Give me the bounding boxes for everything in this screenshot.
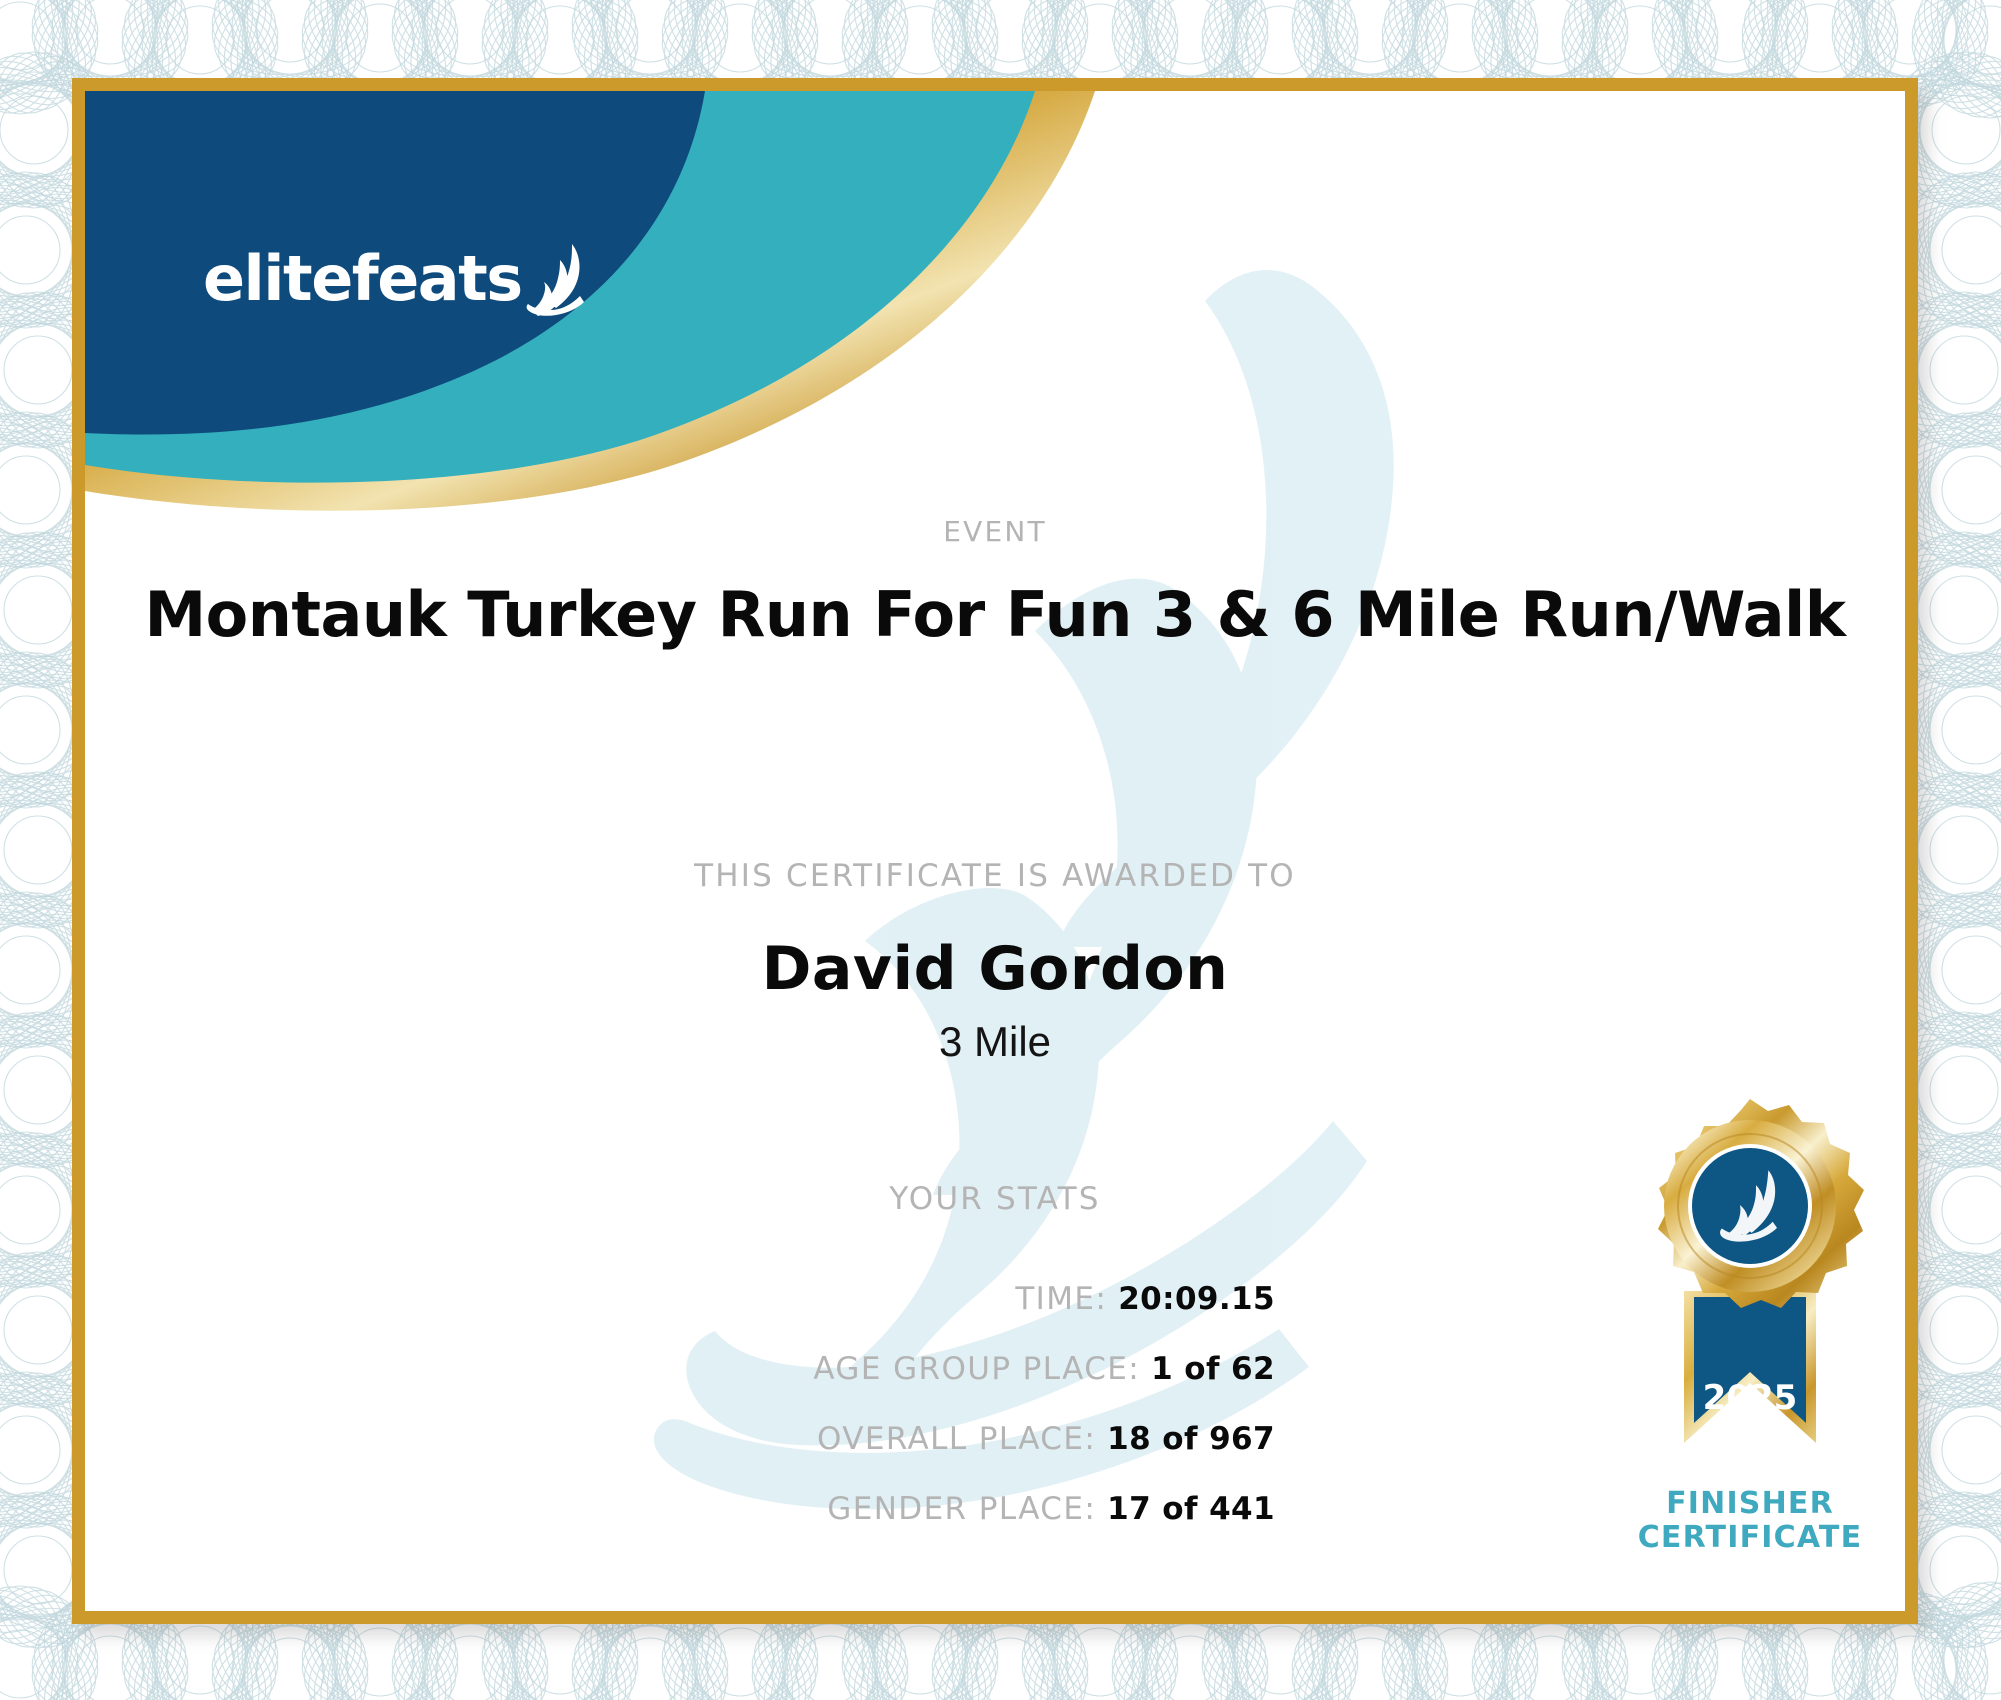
stat-key: OVERALL PLACE:: [817, 1421, 1096, 1457]
certificate-body: elitefeats EVENT Montauk Turkey Run For …: [85, 91, 1905, 1611]
gold-certificate-frame: elitefeats EVENT Montauk Turkey Run For …: [72, 78, 1918, 1624]
medal-year: 2025: [1703, 1378, 1798, 1418]
race-distance: 3 Mile: [85, 1018, 1905, 1066]
stat-value: 20:09.15: [1118, 1281, 1275, 1317]
certificate-page: elitefeats EVENT Montauk Turkey Run For …: [0, 0, 2001, 1700]
logo-wordmark: elitefeats: [203, 248, 522, 310]
finisher-line-1: FINISHER: [1585, 1487, 1905, 1521]
medal-graphic: 2025: [1622, 1091, 1878, 1481]
stat-value: 17 of 441: [1107, 1491, 1275, 1527]
elitefeats-logo: elitefeats: [203, 231, 593, 326]
event-label: EVENT: [85, 515, 1905, 548]
finisher-line-2: CERTIFICATE: [1585, 1521, 1905, 1555]
medal-disc: [1658, 1099, 1864, 1308]
winged-foot-icon: [526, 242, 592, 316]
stat-key: AGE GROUP PLACE:: [813, 1351, 1140, 1387]
stat-key: GENDER PLACE:: [827, 1491, 1096, 1527]
stat-row-time: TIME: 20:09.15: [85, 1281, 1275, 1317]
event-title: Montauk Turkey Run For Fun 3 & 6 Mile Ru…: [85, 578, 1905, 651]
finisher-certificate-caption: FINISHER CERTIFICATE: [1585, 1487, 1905, 1554]
stat-value: 18 of 967: [1107, 1421, 1275, 1457]
recipient-name: David Gordon: [85, 934, 1905, 1004]
stat-row-overall-place: OVERALL PLACE: 18 of 967: [85, 1421, 1275, 1457]
stat-row-age-group-place: AGE GROUP PLACE: 1 of 62: [85, 1351, 1275, 1387]
medal-ribbon: [1684, 1291, 1816, 1443]
stat-value: 1 of 62: [1151, 1351, 1275, 1387]
stats-list: TIME: 20:09.15 AGE GROUP PLACE: 1 of 62 …: [85, 1281, 1275, 1561]
stat-key: TIME:: [1015, 1281, 1107, 1317]
awarded-to-label: THIS CERTIFICATE IS AWARDED TO: [85, 858, 1905, 894]
stat-row-gender-place: GENDER PLACE: 17 of 441: [85, 1491, 1275, 1527]
finisher-medal-seal: 2025 FINISHER CERTIFICATE: [1585, 1091, 1905, 1554]
